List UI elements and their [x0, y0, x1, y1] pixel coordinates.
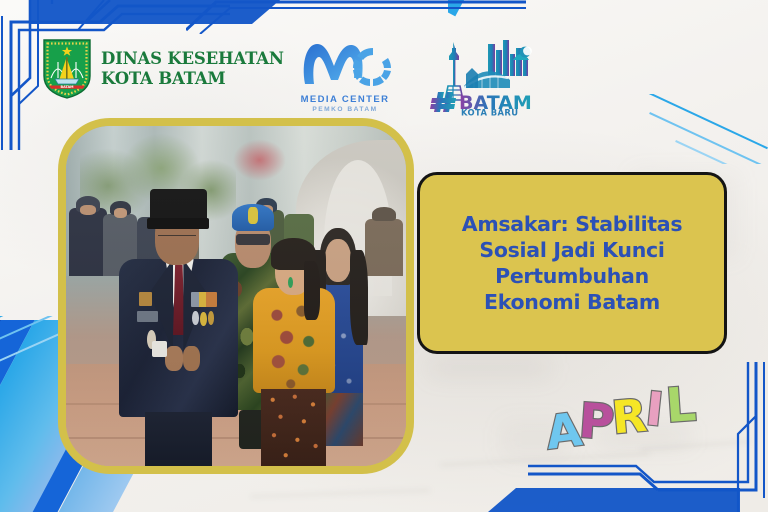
poster-canvas: BATAM DINAS KESEHATAN KOTA BATAM [0, 0, 768, 512]
batam-kota-baru-icon: BATAM KOTA BARU [430, 30, 550, 116]
header-logo-row: BATAM DINAS KESEHATAN KOTA BATAM [0, 30, 768, 116]
dinkes-line-2: KOTA BATAM [101, 71, 284, 88]
media-center-mc-icon [295, 32, 395, 90]
april-letter-i: I [643, 381, 666, 436]
decor-circuit-bottom-bar [440, 478, 740, 512]
headline-line-4: Ekonomi Batam [484, 290, 660, 314]
batam-city-emblem-icon: BATAM [42, 38, 92, 100]
media-center-logo-group: MEDIA CENTER PEMKO BATAM [295, 32, 395, 113]
headline-box: Amsakar: Stabilitas Sosial Jadi Kunci Pe… [417, 172, 727, 354]
headline-line-3: Pertumbuhan [495, 264, 649, 288]
april-letter-l: L [664, 377, 698, 434]
headline-line-1: Amsakar: Stabilitas [462, 212, 682, 236]
media-center-line-1: MEDIA CENTER [295, 94, 395, 105]
batam-kota-baru-logo-group: BATAM KOTA BARU [430, 30, 550, 121]
decor-circuit-top-right-lines [186, 0, 526, 34]
dinas-kesehatan-wordmark: DINAS KESEHATAN KOTA BATAM [101, 51, 284, 87]
emblem-banner-label: BATAM [61, 85, 75, 89]
kota-baru-line-2: KOTA BARU [461, 108, 518, 117]
dinkes-line-1: DINAS KESEHATAN [101, 51, 284, 68]
headline-line-2: Sosial Jadi Kunci [479, 238, 664, 262]
media-center-line-2: PEMKO BATAM [295, 106, 395, 113]
news-photo-card [58, 118, 414, 474]
dinas-kesehatan-logo-group: BATAM DINAS KESEHATAN KOTA BATAM [42, 38, 284, 100]
page-title: Amsakar: Stabilitas Sosial Jadi Kunci Pe… [454, 211, 690, 316]
april-badge: A P R I L [546, 386, 706, 458]
april-letter-r: R [610, 389, 649, 445]
